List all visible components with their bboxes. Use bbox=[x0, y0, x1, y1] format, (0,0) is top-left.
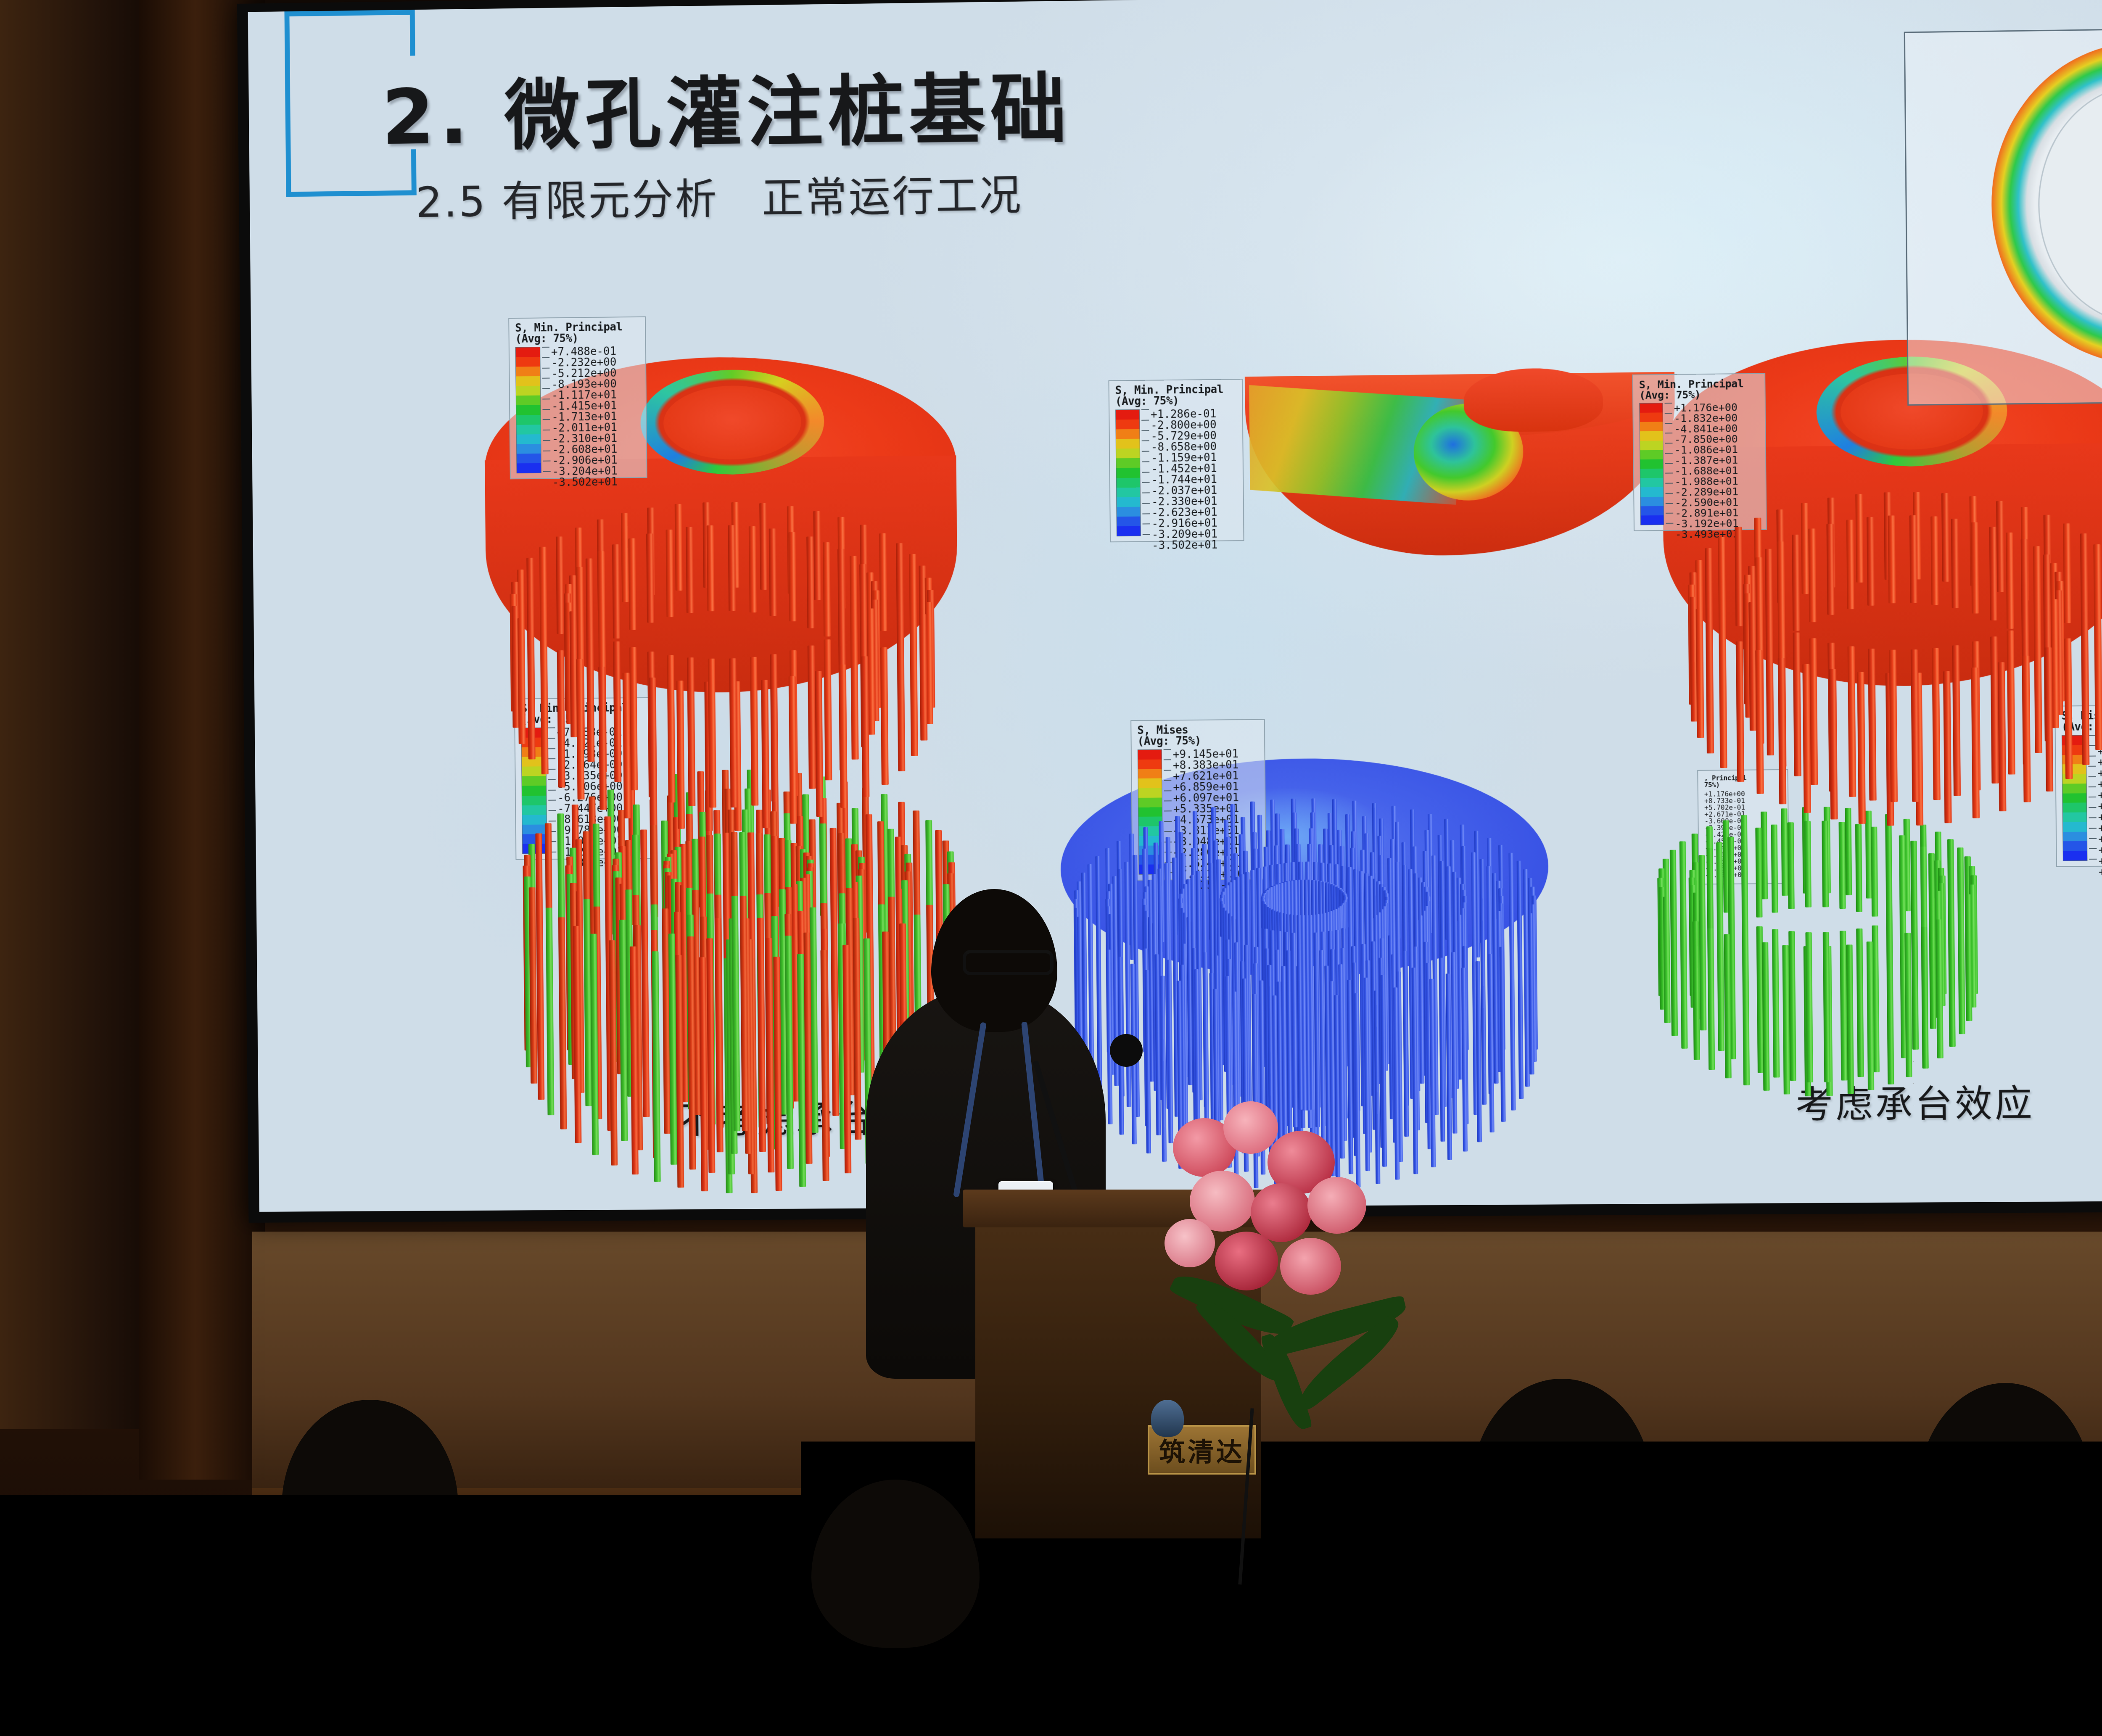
pile bbox=[2081, 628, 2089, 765]
colorbar-swatch bbox=[516, 396, 541, 406]
inset-copen-panel bbox=[1904, 26, 2102, 406]
pile bbox=[1943, 671, 1952, 823]
colorbar-swatch bbox=[1138, 769, 1162, 778]
pile bbox=[769, 528, 777, 616]
flower-bloom bbox=[1223, 1101, 1278, 1154]
pile bbox=[1829, 669, 1838, 820]
pile bbox=[1899, 835, 1906, 930]
pile bbox=[837, 549, 845, 646]
legend-min-principal-1-ticks bbox=[540, 347, 552, 472]
pile bbox=[2044, 647, 2053, 791]
pile bbox=[707, 525, 715, 611]
legend-mises-1-title: S, Mises (Avg: 75%) bbox=[1137, 724, 1259, 747]
pile bbox=[788, 532, 796, 622]
legend-min-principal-2: S, Min. Principal (Avg: 75%)+1.286e-01 -… bbox=[1108, 379, 1244, 542]
colorbar-swatch bbox=[1116, 439, 1140, 449]
colorbar-swatch bbox=[1640, 450, 1663, 459]
pile bbox=[1801, 503, 1809, 594]
colorbar-swatch bbox=[517, 434, 541, 444]
pile bbox=[1772, 929, 1780, 1078]
name-placard-2: 黄冬平 bbox=[2085, 1623, 2102, 1681]
pile bbox=[540, 640, 549, 774]
pile bbox=[749, 526, 757, 613]
colorbar-swatch bbox=[1117, 487, 1140, 497]
pile bbox=[761, 680, 769, 828]
pile bbox=[598, 551, 606, 649]
pile bbox=[1971, 667, 1980, 818]
pile bbox=[1885, 831, 1893, 923]
projection-screen-frame: 2. 微孔灌注桩基础 2.5 有限元分析 正常运行工况 不考虑承台 考虑承台效应 bbox=[237, 0, 2102, 1223]
colorbar-swatch bbox=[1138, 788, 1162, 798]
pile bbox=[1990, 636, 1999, 783]
pile bbox=[1855, 494, 1863, 582]
pile bbox=[2064, 638, 2073, 779]
colorbar-swatch bbox=[2063, 813, 2087, 822]
pile bbox=[1756, 828, 1763, 918]
colorbar-swatch bbox=[1640, 403, 1662, 413]
colorbar-swatch bbox=[1116, 419, 1139, 430]
legend-mises-2-values: +6.495e+01 +5.954e+01 +5.413e+01 +4.871e… bbox=[2097, 734, 2102, 860]
colorbar-swatch bbox=[2063, 841, 2087, 851]
colorbar-swatch bbox=[1116, 410, 1139, 420]
colorbar-swatch bbox=[1640, 413, 1662, 422]
pile bbox=[1951, 519, 1959, 608]
colorbar-swatch bbox=[2063, 831, 2087, 841]
pile bbox=[2007, 631, 2015, 775]
pile bbox=[518, 618, 526, 744]
pile bbox=[1845, 808, 1852, 895]
water-bottle-right bbox=[2052, 1555, 2085, 1644]
pile bbox=[823, 542, 831, 636]
pile bbox=[1756, 650, 1764, 794]
colorbar-swatch bbox=[516, 376, 540, 386]
pile bbox=[815, 671, 823, 817]
pile bbox=[1735, 527, 1743, 626]
colorbar-swatch bbox=[1641, 506, 1664, 516]
pile bbox=[667, 655, 675, 803]
pile bbox=[813, 511, 821, 600]
colorbar-swatch bbox=[522, 795, 547, 805]
pile bbox=[1663, 897, 1671, 1024]
speaker-glasses-icon bbox=[963, 950, 1054, 975]
pile bbox=[557, 650, 565, 788]
pile bbox=[2033, 616, 2042, 754]
colorbar-swatch bbox=[1117, 507, 1140, 517]
pile bbox=[919, 614, 927, 740]
pile bbox=[861, 656, 869, 797]
pile bbox=[649, 677, 657, 825]
pile bbox=[789, 676, 797, 823]
colorbar-swatch bbox=[516, 347, 540, 357]
pile bbox=[1941, 493, 1949, 581]
pile bbox=[1909, 515, 1917, 603]
pile bbox=[2006, 532, 2014, 629]
pile bbox=[1929, 898, 1936, 1029]
colorbar-swatch bbox=[522, 805, 547, 815]
pile bbox=[621, 513, 629, 602]
pile bbox=[1742, 939, 1750, 1085]
pile bbox=[576, 659, 585, 800]
pile bbox=[1718, 537, 1726, 641]
pile bbox=[896, 543, 904, 644]
colorbar-swatch bbox=[1640, 441, 1663, 450]
pile bbox=[1996, 501, 2004, 592]
colorbar-swatch bbox=[522, 824, 547, 834]
pile bbox=[728, 525, 736, 611]
legend-min-principal-1-colorbar bbox=[515, 347, 541, 473]
pile bbox=[729, 658, 737, 807]
pile bbox=[1717, 913, 1724, 1051]
pile bbox=[1847, 646, 1856, 797]
colorbar-swatch bbox=[2062, 793, 2086, 803]
pile bbox=[1707, 928, 1715, 1070]
colorbar-swatch bbox=[1138, 797, 1162, 807]
colorbar-swatch bbox=[1116, 449, 1140, 459]
legend-min-principal-2-title: S, Min. Principal (Avg: 75%) bbox=[1115, 384, 1237, 407]
pile bbox=[1788, 931, 1796, 1081]
pile bbox=[1867, 517, 1875, 605]
legend-min-principal-1: S, Min. Principal (Avg: 75%)+7.488e-01 -… bbox=[508, 317, 647, 480]
colorbar-swatch bbox=[2062, 784, 2086, 793]
pile bbox=[1741, 831, 1748, 923]
pile bbox=[1792, 535, 1800, 631]
colorbar-swatch bbox=[516, 367, 540, 377]
pile bbox=[1957, 903, 1965, 1034]
pile bbox=[910, 626, 918, 756]
legend-min-principal-1-title: S, Min. Principal (Avg: 75%) bbox=[515, 322, 640, 345]
pile bbox=[646, 533, 654, 623]
water-bottle-right-cap bbox=[2054, 1543, 2083, 1558]
flower-bloom bbox=[1251, 1183, 1312, 1242]
pile bbox=[1932, 648, 1941, 800]
left-wall bbox=[0, 0, 151, 1429]
pile bbox=[1696, 609, 1704, 738]
pile bbox=[2080, 533, 2089, 637]
colorbar-swatch bbox=[1641, 515, 1664, 525]
water-bottle-left bbox=[38, 1635, 71, 1690]
slide-subtitle: 2.5 有限元分析 正常运行工况 bbox=[415, 161, 1023, 229]
flower-bloom bbox=[1215, 1232, 1278, 1290]
pile bbox=[1778, 658, 1786, 805]
projection-screen: 2. 微孔灌注桩基础 2.5 有限元分析 正常运行工况 不考虑承台 考虑承台效应 bbox=[248, 0, 2102, 1212]
pile bbox=[1965, 894, 1972, 1021]
pile bbox=[2063, 524, 2071, 623]
microphone-head-icon bbox=[1110, 1034, 1143, 1067]
pile bbox=[1827, 524, 1835, 615]
pile bbox=[1921, 926, 1928, 1068]
pile bbox=[1728, 836, 1735, 931]
colorbar-swatch bbox=[516, 405, 541, 415]
pile bbox=[1911, 649, 1920, 802]
legend-min-principal-3-ticks bbox=[1663, 403, 1675, 524]
colorbar-swatch bbox=[1138, 759, 1162, 769]
pile bbox=[1997, 662, 2006, 811]
colorbar-swatch bbox=[2063, 851, 2087, 860]
pile bbox=[1680, 914, 1688, 1049]
pile bbox=[1771, 824, 1778, 913]
legend-min-principal-3-colorbar bbox=[1639, 403, 1664, 525]
pile bbox=[750, 657, 758, 806]
pile bbox=[629, 647, 638, 790]
pile bbox=[880, 647, 889, 785]
pile bbox=[808, 646, 816, 789]
colorbar-swatch bbox=[1640, 478, 1663, 488]
colorbar-swatch bbox=[1640, 459, 1663, 469]
flower-arrangement bbox=[1160, 1093, 1455, 1471]
pile bbox=[1509, 939, 1516, 1111]
pile bbox=[1838, 822, 1846, 909]
pile bbox=[1948, 912, 1955, 1047]
pile bbox=[850, 625, 858, 759]
colorbar-swatch bbox=[1640, 469, 1663, 478]
colorbar-swatch bbox=[516, 386, 541, 396]
pile bbox=[897, 637, 905, 771]
colorbar-swatch bbox=[2063, 803, 2087, 813]
colorbar-swatch bbox=[517, 454, 541, 464]
water-bottle-mid-cap bbox=[1327, 1553, 1355, 1567]
pile bbox=[546, 908, 555, 1115]
pile bbox=[527, 630, 536, 760]
pile bbox=[1804, 821, 1812, 908]
colorbar-swatch bbox=[2063, 822, 2087, 831]
colorbar-swatch bbox=[1116, 429, 1140, 439]
colorbar-swatch bbox=[1640, 422, 1663, 432]
pile bbox=[879, 533, 887, 631]
pile bbox=[1989, 527, 1997, 620]
water-bottle-mid bbox=[1324, 1564, 1358, 1648]
pile bbox=[612, 544, 620, 638]
pile bbox=[824, 639, 832, 780]
colorbar-swatch bbox=[516, 415, 541, 425]
colorbar-swatch bbox=[1640, 431, 1663, 441]
pile bbox=[539, 547, 547, 648]
legend-min-principal-3-values: +1.176e+00 -1.832e+00 -4.841e+00 -7.850e… bbox=[1674, 402, 1739, 524]
colorbar-swatch bbox=[1117, 516, 1141, 526]
colorbar-swatch bbox=[516, 357, 540, 367]
lecture-hall-room: 2. 微孔灌注桩基础 2.5 有限元分析 正常运行工况 不考虑承台 考虑承台效应 bbox=[0, 0, 2102, 1688]
pile bbox=[1806, 932, 1814, 1082]
pile bbox=[686, 527, 694, 614]
colorbar-swatch bbox=[1117, 478, 1140, 488]
pile bbox=[628, 538, 636, 630]
flower-bloom bbox=[1165, 1219, 1215, 1267]
colorbar-swatch bbox=[522, 776, 546, 786]
pile bbox=[1888, 516, 1896, 604]
flower-bloom bbox=[1307, 1177, 1366, 1234]
colorbar-swatch bbox=[1138, 750, 1162, 760]
colorbar-swatch bbox=[1138, 807, 1162, 817]
pile bbox=[1855, 824, 1862, 912]
colorbar-swatch bbox=[516, 425, 541, 435]
pile bbox=[675, 504, 683, 591]
pile bbox=[1517, 930, 1524, 1099]
pile bbox=[641, 900, 650, 1117]
pile bbox=[1930, 517, 1938, 605]
pile bbox=[613, 641, 621, 782]
colorbar-swatch bbox=[517, 444, 541, 454]
colorbar-swatch bbox=[522, 815, 547, 824]
colorbar-swatch bbox=[522, 786, 547, 795]
pile bbox=[759, 503, 767, 590]
colorbar-swatch bbox=[1117, 497, 1140, 507]
pile bbox=[1809, 638, 1818, 785]
pile bbox=[598, 667, 607, 810]
pile bbox=[1936, 919, 1943, 1058]
pile bbox=[1846, 520, 1854, 609]
pile bbox=[1706, 620, 1714, 753]
pile bbox=[1735, 641, 1744, 782]
pile bbox=[1857, 672, 1866, 824]
legend-min-principal-3-title: S, Min. Principal (Avg: 75%) bbox=[1639, 378, 1760, 401]
pile bbox=[665, 530, 673, 617]
colorbar-swatch bbox=[517, 463, 541, 473]
legend-min-principal-2-values: +1.286e-01 -2.800e+00 -5.729e+00 -8.658e… bbox=[1151, 409, 1217, 535]
pile bbox=[536, 898, 544, 1100]
pile bbox=[556, 537, 564, 634]
pile bbox=[1904, 933, 1912, 1077]
pile bbox=[806, 536, 814, 628]
pile bbox=[1781, 809, 1788, 896]
pile bbox=[586, 628, 595, 762]
pile bbox=[1762, 942, 1769, 1091]
pile bbox=[1766, 619, 1774, 756]
colorbar-swatch bbox=[523, 834, 547, 844]
pile bbox=[1788, 822, 1795, 909]
pile bbox=[2022, 655, 2031, 802]
colorbar-swatch bbox=[1138, 778, 1162, 788]
pile bbox=[1808, 528, 1816, 622]
pile bbox=[1856, 929, 1864, 1077]
pile bbox=[1125, 936, 1131, 1107]
flower-bloom bbox=[1280, 1238, 1341, 1295]
pile bbox=[839, 664, 848, 808]
water-bottle-left-cap bbox=[40, 1626, 68, 1640]
legend-min-principal-2-ticks bbox=[1140, 409, 1152, 536]
slide-title: 2. 微孔灌注桩基础 bbox=[381, 47, 1072, 166]
pile bbox=[1911, 911, 1919, 1050]
pile bbox=[1822, 821, 1829, 908]
pile bbox=[2094, 617, 2102, 750]
colorbar-swatch bbox=[1116, 468, 1140, 478]
pile bbox=[676, 681, 685, 829]
pile bbox=[1793, 633, 1801, 776]
legend-min-principal-3: S, Min. Principal (Avg: 75%)+1.176e+00 -… bbox=[1632, 373, 1767, 531]
pile bbox=[1699, 900, 1706, 1031]
colorbar-swatch bbox=[1640, 487, 1663, 497]
legend-min-principal-1-values: +7.488e-01 -2.232e+00 -5.212e+00 -8.193e… bbox=[551, 346, 618, 472]
pile bbox=[558, 917, 567, 1129]
pile bbox=[1719, 631, 1727, 768]
pile bbox=[1670, 905, 1678, 1037]
colorbar-swatch bbox=[1116, 458, 1140, 468]
pile bbox=[1971, 522, 1979, 613]
legend-min-principal-2-colorbar bbox=[1115, 409, 1141, 536]
colorbar-swatch bbox=[1117, 526, 1141, 536]
pile bbox=[1871, 826, 1878, 916]
colorbar-swatch bbox=[1640, 496, 1663, 506]
